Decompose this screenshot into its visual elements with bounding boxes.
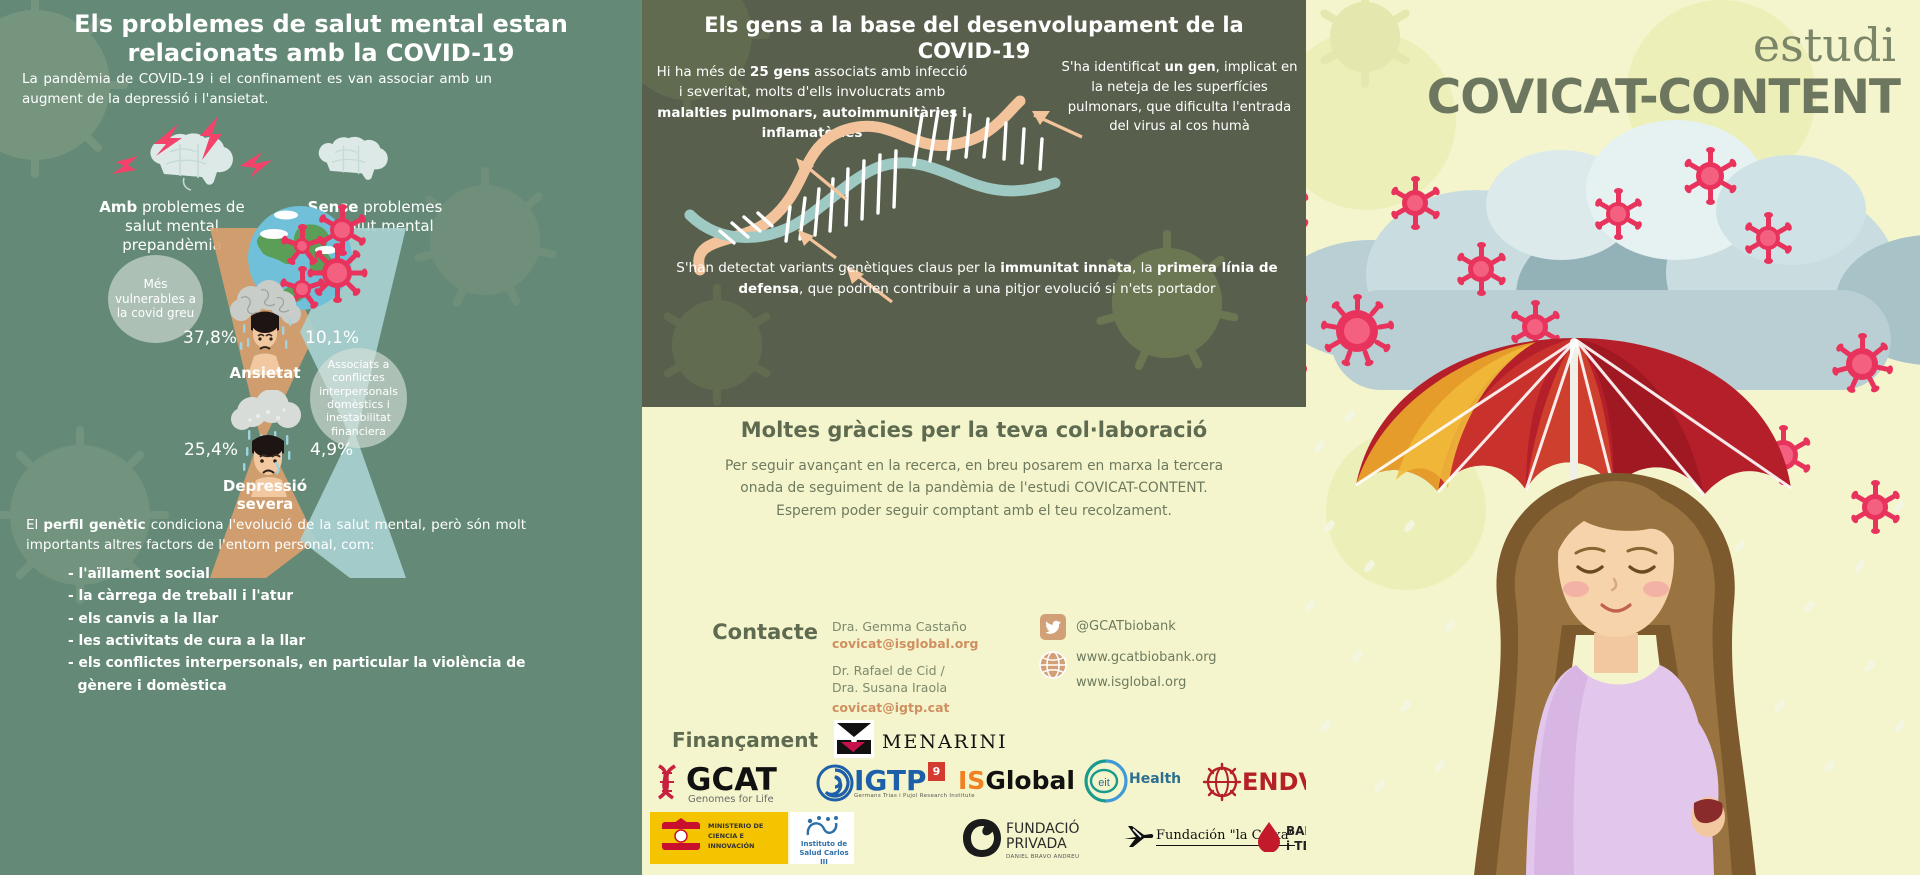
svg-text:eit: eit (1098, 777, 1110, 789)
depression-label: Depressió severa (200, 478, 330, 513)
virus-particle-icon (294, 238, 310, 254)
depression-pct-right: 4,9% (310, 440, 353, 460)
estudi-label: estudi (1753, 18, 1896, 72)
genetic-bold: perfil genètic (43, 517, 145, 533)
genes-right-part-1: un gen (1165, 60, 1216, 75)
banc-line1: BANC DE SANG (1286, 824, 1306, 838)
risk-factor-item-1: - la càrrega de treball i l'atur (68, 585, 538, 607)
risk-factor-item-4: - els conflictes interpersonals, en part… (68, 652, 538, 697)
virus-particle-icon (1402, 190, 1428, 216)
ministerio-ciencia-logo: MINISTERIO DE CIENCIA E INNOVACIÓN (650, 812, 788, 864)
virus-particle-icon (1846, 348, 1878, 380)
genes-left-part-0: Hi ha més de (657, 64, 750, 80)
genes-bottom-paragraph: S'han detectat variants genètiques claus… (672, 258, 1282, 300)
fundacio-privada-logo-text: FUNDACIÓ PRIVADA (1006, 822, 1106, 853)
virus-particle-icon (1862, 494, 1888, 520)
genes-section-title: Els gens a la base del desenvolupament d… (662, 12, 1286, 65)
thanks-body: Per seguir avançant en la recerca, en br… (702, 455, 1246, 522)
gcat-logo-subtext: Genomes for Life (688, 794, 774, 805)
instituto-salud-carlos-iii-logo: Instituto de Salud Carlos III (790, 812, 854, 864)
contact-person-1: Dra. Gemma Castaño covicat@isglobal.org (832, 618, 1007, 652)
website-isglobal[interactable]: www.isglobal.org (1076, 675, 1186, 690)
virus-particle-icon (1468, 256, 1494, 282)
depression-pct-left: 25,4% (184, 440, 238, 460)
banc-de-sang-i-teixits-logo (1256, 820, 1282, 852)
instituto-logo-text: Instituto de Salud Carlos III (796, 840, 852, 867)
genes-left-part-1: 25 gens (750, 64, 810, 80)
lightning-bolt-icon (196, 116, 226, 164)
lightning-bolt-icon (110, 152, 140, 180)
genes-right-paragraph: S'ha identificat un gen, implicat en la … (1057, 58, 1302, 137)
funding-heading: Finançament (648, 728, 818, 752)
gcat-logo-text: GCAT (686, 762, 777, 798)
menarini-logo (832, 718, 876, 760)
infographic-root: Els problemes de salut mental estan rela… (0, 0, 1920, 875)
thanks-title: Moltes gràcies per la teva col·laboració (662, 418, 1286, 442)
genes-dark-section: Els gens a la base del desenvolupament d… (642, 0, 1306, 407)
contact-email-1[interactable]: covicat@isglobal.org (832, 635, 1007, 652)
lightning-bolt-icon (148, 122, 190, 158)
genes-bottom-part-4: , que podrien contribuir a una pitjor ev… (799, 281, 1216, 297)
lightning-bolt-icon (238, 150, 276, 182)
panel-genes-and-contact: Els gens a la base del desenvolupament d… (642, 0, 1306, 875)
risk-factor-item-0: - l'aïllament social (68, 563, 538, 585)
risk-factor-item-3: - les activitats de cura a la llar (68, 630, 538, 652)
fundacio-privada-logo-subtext: DANIEL BRAVO ANDREU (1006, 854, 1080, 860)
contact-name-1: Dra. Gemma Castaño (832, 618, 1007, 635)
arrow-up-left-icon (790, 155, 850, 203)
study-brand-title: COVICAT-CONTENT (1427, 70, 1900, 125)
panel-cover-illustration: estudi COVICAT-CONTENT (1306, 0, 1920, 875)
isglobal-logo-text: Global (985, 766, 1075, 795)
eit-health-logo: eit (1082, 758, 1130, 804)
anxiety-pct-left: 37,8% (183, 328, 237, 348)
arrow-up-left-icon (794, 228, 840, 262)
risk-factors-list: - l'aïllament social- la càrrega de treb… (68, 563, 538, 697)
globe-icon (1038, 650, 1068, 680)
eit-health-logo-text: Health (1129, 771, 1181, 787)
bubble-associated-conflicts: Associats a conflictes interpersonals do… (310, 348, 407, 448)
genetic-profile-paragraph: El perfil genètic condiciona l'evolució … (26, 515, 526, 556)
depression-label-text: Depressió severa (223, 477, 307, 513)
virus-particle-icon (330, 218, 354, 242)
woman-illustration (1426, 455, 1806, 875)
genes-bottom-part-0: S'han detectat variants genètiques claus… (676, 260, 1000, 276)
genetic-lead: El (26, 517, 43, 533)
left-panel-title: Els problemes de salut mental estan rela… (14, 10, 628, 69)
ministerio-logo-text: MINISTERIO DE CIENCIA E INNOVACIÓN (708, 822, 784, 851)
igtp-logo-badge: 9 (928, 762, 945, 781)
decorative-virus-icon (1330, 2, 1400, 72)
risk-factor-item-2: - els canvis a la llar (68, 608, 538, 630)
virus-particle-icon (1606, 202, 1630, 226)
twitter-handle[interactable]: @GCATbiobank (1076, 619, 1176, 634)
anxiety-label: Ansietat (200, 365, 330, 383)
banc-de-sang-logo-text: BANC DE SANGi TEIXITS (1286, 824, 1306, 854)
genes-right-part-0: S'ha identificat (1062, 60, 1165, 75)
virus-particle-icon (1696, 162, 1724, 190)
gcat-logo (649, 762, 685, 802)
fundacion-la-caixa-logo (1122, 823, 1154, 849)
contact-person-2: Dr. Rafael de Cid / Dra. Susana Iraola c… (832, 662, 1007, 716)
website-gcatbiobank[interactable]: www.gcatbiobank.org (1076, 650, 1217, 665)
contact-heading: Contacte (648, 620, 818, 644)
igtp-logo-subtext: Germans Trias i Pujol Research Institute (854, 793, 975, 799)
igtp-logo (816, 764, 854, 802)
contact-name-2: Dr. Rafael de Cid / Dra. Susana Iraola (832, 662, 1007, 696)
twitter-icon[interactable] (1040, 614, 1066, 640)
fundacio-privada-logo (960, 816, 1004, 860)
anxiety-pct-right: 10,1% (305, 328, 359, 348)
left-panel-intro: La pandèmia de COVID-19 i el confinament… (22, 70, 492, 109)
endvoc-logo (1202, 762, 1242, 802)
brain-without-problems-icon (310, 132, 402, 188)
isglobal-logo: ISGlobal (958, 766, 1075, 795)
label-amb-bold: Amb (99, 198, 137, 216)
virus-particle-icon (322, 258, 352, 288)
menarini-logo-text: MENARINI (882, 731, 1008, 753)
banc-line2: i TEIXITS (1286, 839, 1306, 853)
decorative-virus-icon (672, 300, 762, 390)
arrow-up-right-icon (1030, 105, 1086, 145)
virus-particle-icon (1756, 226, 1780, 250)
contact-email-2[interactable]: covicat@igtp.cat (832, 699, 1007, 716)
genes-bottom-part-2: , la (1132, 260, 1157, 276)
panel-mental-health: Els problemes de salut mental estan rela… (0, 0, 642, 875)
endvoc-logo-text: ENDVOC (1242, 768, 1306, 796)
genes-bottom-part-1: immunitat innata (1000, 260, 1132, 276)
dna-helix-icon (660, 95, 1090, 280)
